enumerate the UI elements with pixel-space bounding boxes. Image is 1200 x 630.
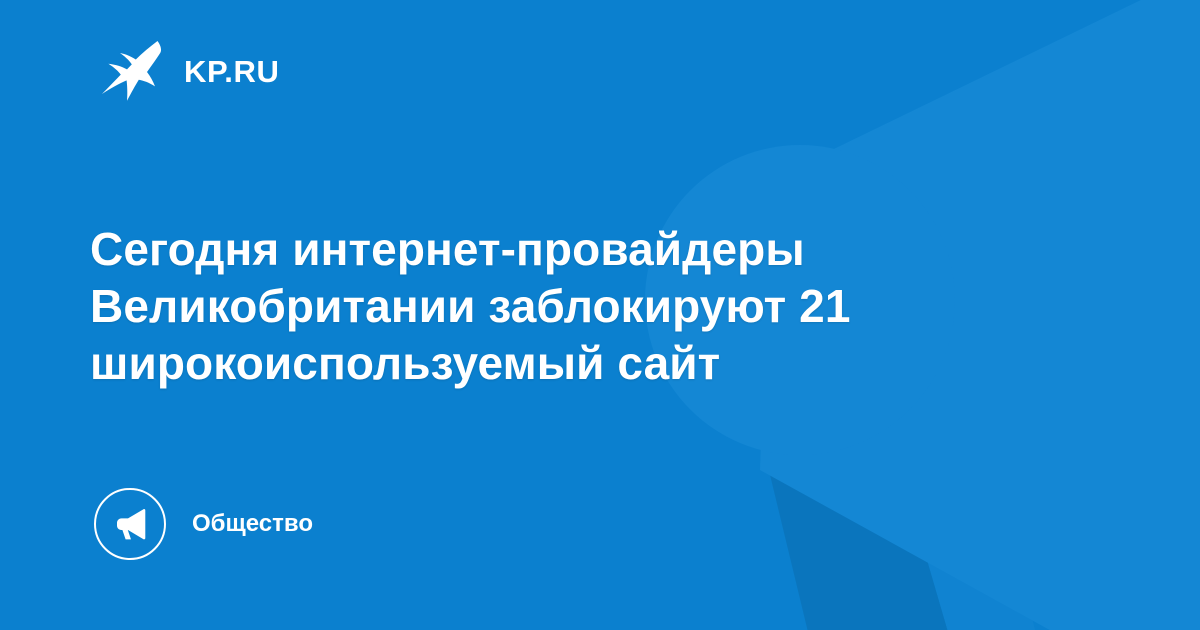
- headline: Сегодня интернет-провайдеры Великобритан…: [90, 221, 1090, 392]
- brand-name-text: KP.RU: [184, 56, 279, 87]
- headline-line-3: широкоиспользуемый сайт: [90, 335, 1090, 392]
- category-badge[interactable]: Общество: [94, 488, 313, 560]
- swallow-bird-icon: [98, 38, 162, 104]
- megaphone-icon: [112, 506, 148, 542]
- category-label: Общество: [192, 512, 313, 536]
- social-share-card: KP.RU Сегодня интернет-провайдеры Велико…: [0, 0, 1200, 630]
- category-icon-circle: [94, 488, 166, 560]
- brand-logo-row[interactable]: KP.RU: [98, 38, 279, 104]
- headline-line-2: Великобритании заблокируют 21: [90, 278, 1090, 335]
- headline-line-1: Сегодня интернет-провайдеры: [90, 221, 1090, 278]
